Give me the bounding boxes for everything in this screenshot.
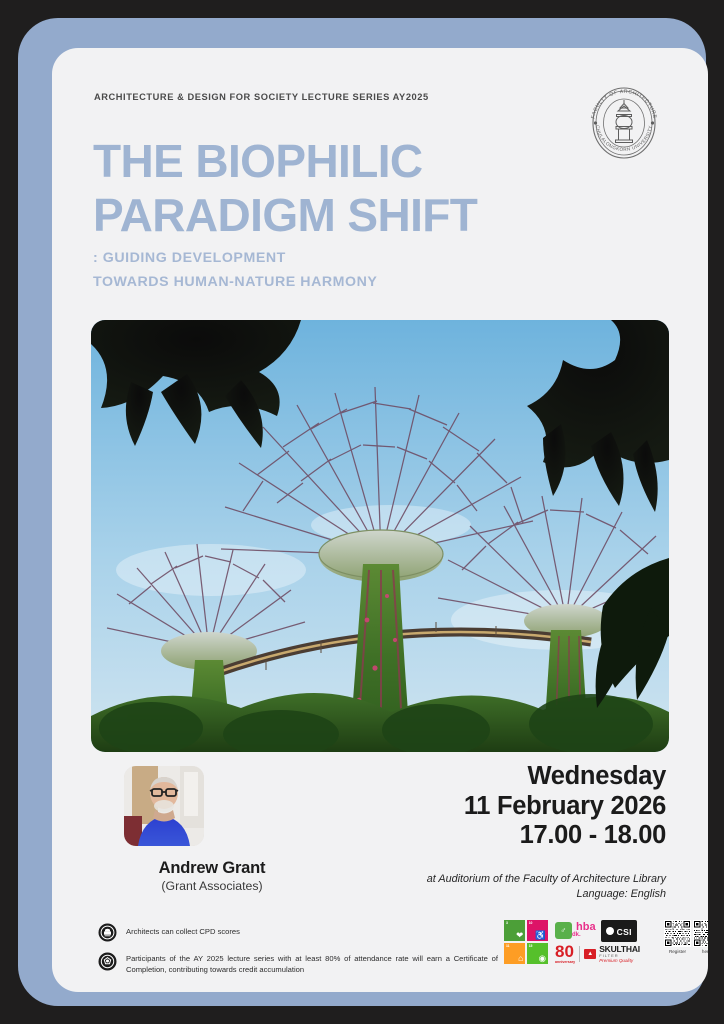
sdg-tile-15-glyph: ◉ — [539, 954, 546, 963]
event-date: 11 February 2026 — [336, 792, 666, 822]
hero-image — [91, 320, 669, 752]
title-line-1: THE BIOPHILIC — [93, 134, 477, 188]
event-time: 17.00 - 18.00 — [336, 821, 666, 851]
sdg-tile-11-number: 11 — [506, 944, 509, 948]
sdg-tile-15: 15 ◉ — [527, 943, 548, 964]
certificate-badge-icon — [98, 952, 117, 971]
sdg-tile-3: 3 ❤ — [504, 920, 525, 941]
anniversary-sub: anniversary — [555, 960, 575, 964]
csi-logo: CSI — [601, 920, 637, 942]
csi-dot-icon — [606, 927, 614, 935]
sdg-tile-10-number: 10 — [529, 921, 533, 925]
note-certificate-text: Participants of the AY 2025 lecture seri… — [126, 951, 498, 975]
footer-notes: Architects can collect CPD scores Partic… — [98, 922, 498, 984]
sdg-tile-11: 11 ⌂ — [504, 943, 525, 964]
hba-logo: hba dk. — [572, 923, 596, 938]
subtitle-line-1: : GUIDING DEVELOPMENT — [93, 246, 377, 270]
speaker-avatar — [124, 766, 204, 846]
note-cpd-text: Architects can collect CPD scores — [126, 922, 240, 937]
sdg-goals-grid: 3 ❤ 10 ♿ 11 ⌂ 15 ◉ — [504, 920, 548, 964]
anniversary-number: 80 — [555, 944, 575, 960]
note-cpd: Architects can collect CPD scores — [98, 922, 498, 942]
poster-title: THE BIOPHILIC PARADIGM SHIFT — [93, 134, 477, 242]
subtitle-line-2: TOWARDS HUMAN-NATURE HARMONY — [93, 270, 377, 294]
logo-divider — [579, 946, 580, 962]
speaker-name: Andrew Grant — [92, 859, 332, 878]
sdg-tile-10-glyph: ♿ — [535, 931, 546, 940]
event-day: Wednesday — [336, 762, 666, 792]
partner-logos: 3 ❤ 10 ♿ 11 ⌂ 15 ◉ ♂ — [504, 920, 674, 964]
sdg-tile-11-glyph: ⌂ — [518, 954, 523, 963]
qr-code-block: Register here — [664, 920, 708, 954]
poster-subtitle: : GUIDING DEVELOPMENT TOWARDS HUMAN-NATU… — [93, 246, 377, 294]
event-datetime: Wednesday 11 February 2026 17.00 - 18.00 — [336, 762, 666, 851]
sdg-tile-3-glyph: ❤ — [516, 931, 523, 940]
qr-code-here[interactable] — [693, 920, 708, 947]
title-line-2: PARADIGM SHIFT — [93, 188, 477, 242]
poster-card: ARCHITECTURE & DESIGN FOR SOCIETY LECTUR… — [52, 48, 708, 992]
qr-label-here: here — [693, 949, 708, 954]
event-venue: at Auditorium of the Faculty of Architec… — [306, 872, 666, 901]
poster-frame: ARCHITECTURE & DESIGN FOR SOCIETY LECTUR… — [18, 18, 706, 1006]
anniversary-logo: 80 anniversary — [555, 944, 575, 964]
hba-logo-name: hba — [576, 923, 596, 932]
skulthai-name: SKULTHAI — [599, 945, 640, 953]
lecture-series-kicker: ARCHITECTURE & DESIGN FOR SOCIETY LECTUR… — [94, 92, 429, 102]
sustainability-seal-icon: ♂ — [555, 922, 572, 939]
skulthai-mark-icon: ▲ — [584, 949, 596, 959]
sdg-tile-3-number: 3 — [506, 921, 508, 925]
venue-language: Language: English — [306, 887, 666, 902]
sdg-tile-15-number: 15 — [529, 944, 533, 948]
sdg-tile-10: 10 ♿ — [527, 920, 548, 941]
qr-code-register[interactable] — [664, 920, 691, 947]
qr-label-register: Register — [664, 949, 691, 954]
cpd-badge-icon — [98, 923, 117, 942]
skulthai-logo: SKULTHAI FILTER Premium Quality — [599, 945, 640, 963]
skulthai-slogan: Premium Quality — [599, 958, 640, 963]
faculty-seal-icon: FACULTY OF ARCHITECTURE CHULALONGKORN UN… — [583, 82, 665, 164]
speaker-organization: (Grant Associates) — [92, 879, 332, 893]
note-certificate: Participants of the AY 2025 lecture seri… — [98, 951, 498, 975]
speaker-block: Andrew Grant (Grant Associates) — [92, 766, 332, 893]
venue-location: at Auditorium of the Faculty of Architec… — [306, 872, 666, 887]
csi-logo-name: CSI — [617, 927, 632, 937]
